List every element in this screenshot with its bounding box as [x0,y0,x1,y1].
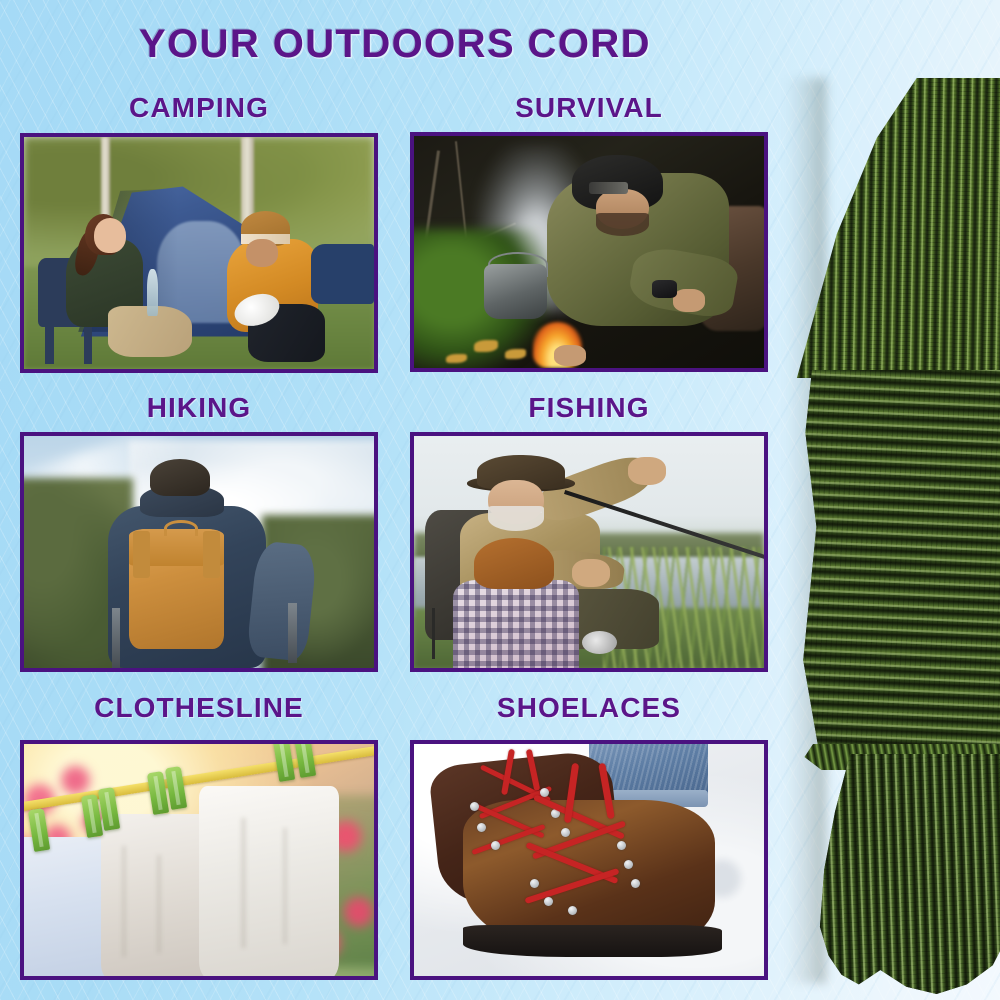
rope-middle-weave-highlight [790,370,1000,762]
rope-top-strands [788,78,1000,378]
shoelaces-scene [414,744,764,976]
use-card-hiking [20,432,378,672]
product-infographic-poster: YOUR OUTDOORS CORD CAMPING [0,0,1000,1000]
card-label-shoelaces: SHOELACES [410,692,768,724]
card-label-clothesline: CLOTHESLINE [20,692,378,724]
use-card-shoelaces [410,740,768,980]
use-card-camping [20,133,378,373]
card-label-fishing: FISHING [410,392,768,424]
rope-bottom-loops [794,754,1000,994]
paracord-hank-product-image [760,78,1000,983]
hiking-scene [24,436,374,668]
clothesline-scene [24,744,374,976]
use-card-fishing [410,432,768,672]
page-title: YOUR OUTDOORS CORD [0,22,790,67]
card-label-hiking: HIKING [20,392,378,424]
survival-scene [414,136,764,368]
fishing-scene [414,436,764,668]
card-label-camping: CAMPING [20,92,378,124]
card-label-survival: SURVIVAL [410,92,768,124]
rope-shadow [786,78,826,983]
use-card-survival [410,132,768,372]
rope-binding-wrap [796,744,1000,770]
rope-top-weave-highlight [788,78,1000,378]
use-card-clothesline [20,740,378,980]
rope-middle-wraps [790,370,1000,762]
camping-scene [24,137,374,369]
rope-bottom-weave-highlight [794,754,1000,994]
